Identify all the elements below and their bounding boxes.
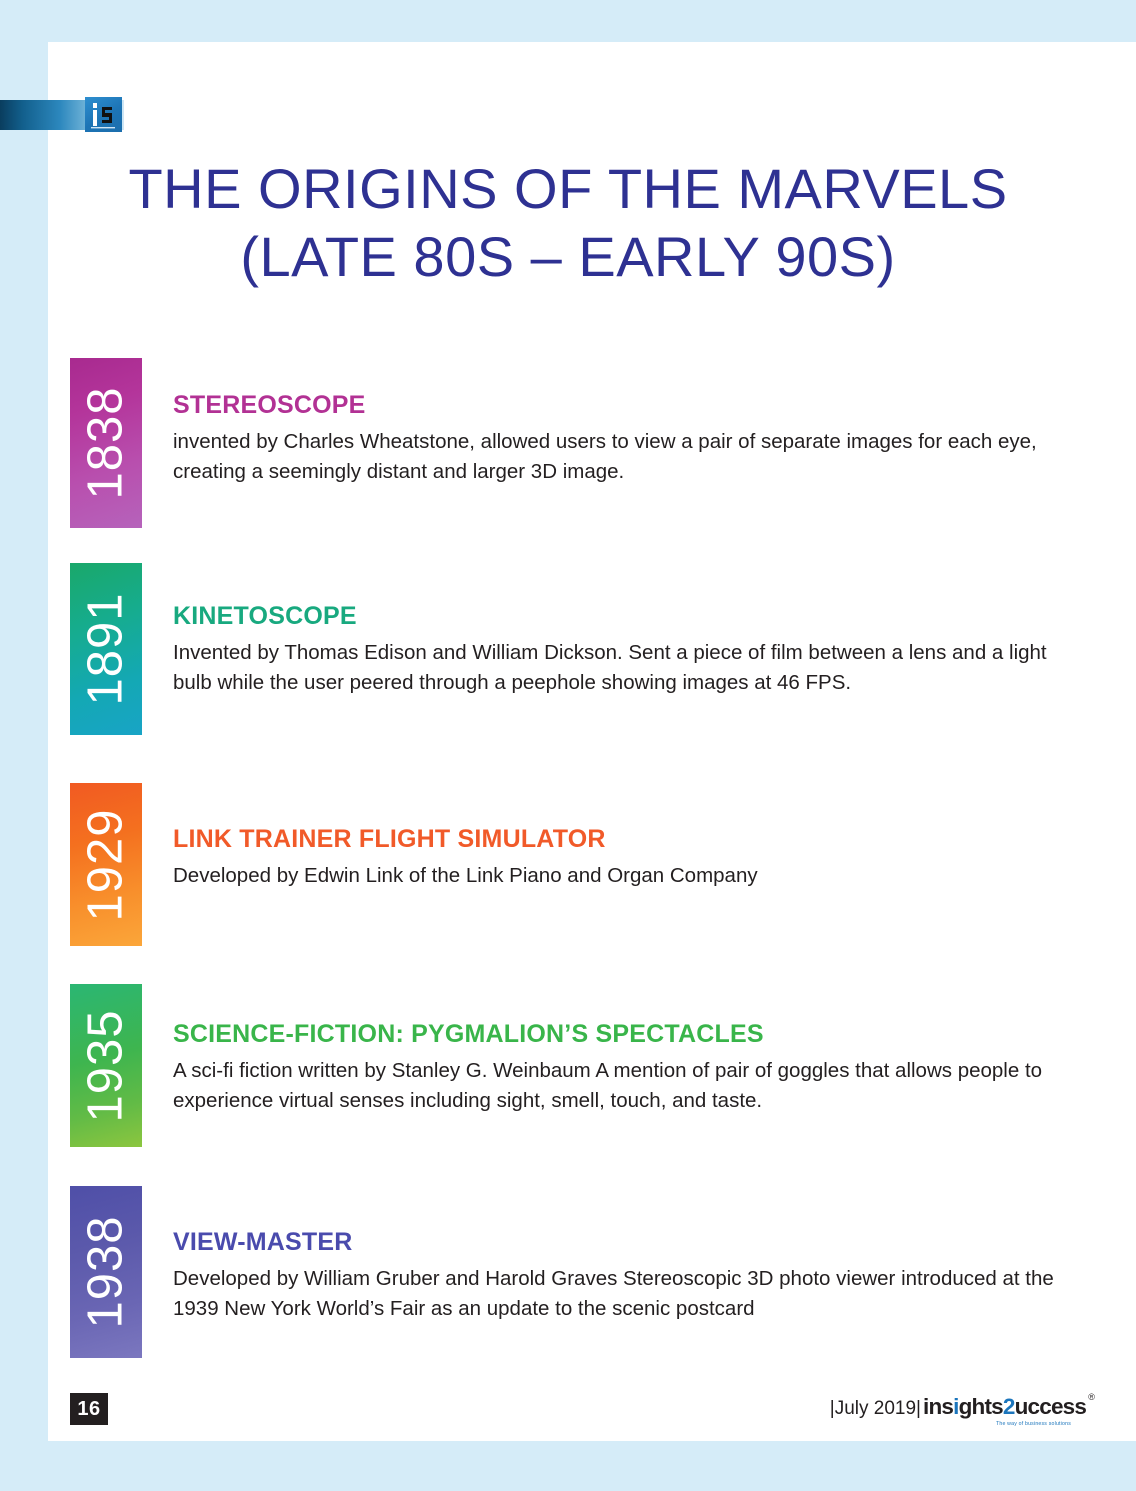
brand-wordmark: insights2uccess® (923, 1396, 1086, 1419)
brand-wordmark-part-3: ghts (959, 1394, 1003, 1419)
brand-wordmark-part-5: uccess (1015, 1394, 1087, 1419)
issue-date-label: |July 2019| (830, 1398, 921, 1420)
insight-success-mark-icon (85, 97, 122, 132)
page-footer: 16 |July 2019| insights2uccess® The way … (0, 0, 1136, 1491)
registered-trademark-icon: ® (1088, 1393, 1094, 1402)
brand-wordmark-part-4: 2 (1003, 1394, 1015, 1419)
brand-tagline: The way of business solutions (923, 1422, 1071, 1427)
page-number-badge: 16 (70, 1393, 108, 1425)
brand-wordmark-part-1: ins (923, 1394, 953, 1419)
brand-logo: insights2uccess® The way of business sol… (923, 1396, 1073, 1427)
